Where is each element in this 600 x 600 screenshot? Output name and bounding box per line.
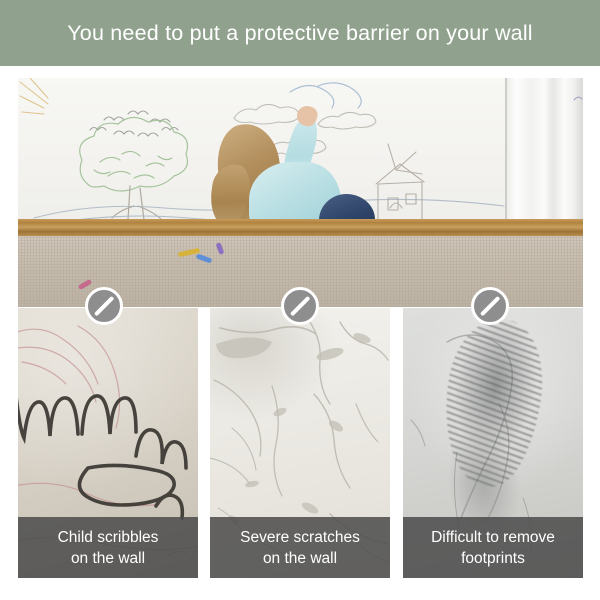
child-figure: [211, 106, 376, 236]
caption-line-1: Severe scratches: [240, 527, 360, 548]
no-entry-icon: [281, 287, 319, 325]
panel-caption: Severe scratches on the wall: [210, 517, 390, 578]
no-entry-icon: [471, 287, 509, 325]
panel-severe-scratches: Severe scratches on the wall: [210, 308, 390, 578]
caption-line-2: on the wall: [263, 548, 337, 569]
panel-child-scribbles: Child scribbles on the wall: [18, 308, 198, 578]
crayon-purple: [216, 242, 225, 255]
hero-photo: [18, 78, 583, 307]
caption-line-2: on the wall: [71, 548, 145, 569]
crayon-pink: [78, 279, 93, 290]
panel-caption: Difficult to remove footprints: [403, 517, 583, 578]
product-infographic: You need to put a protective barrier on …: [0, 0, 600, 600]
page-title: You need to put a protective barrier on …: [67, 21, 533, 46]
panel-difficult-footprints: Difficult to remove footprints: [403, 308, 583, 578]
wood-baseboard: [18, 219, 583, 236]
caption-line-1: Child scribbles: [58, 527, 159, 548]
header-banner: You need to put a protective barrier on …: [0, 0, 600, 66]
no-entry-icon: [85, 287, 123, 325]
caption-line-2: footprints: [461, 548, 525, 569]
crayon-blue: [196, 253, 213, 263]
caption-line-1: Difficult to remove: [431, 527, 555, 548]
panel-caption: Child scribbles on the wall: [18, 517, 198, 578]
